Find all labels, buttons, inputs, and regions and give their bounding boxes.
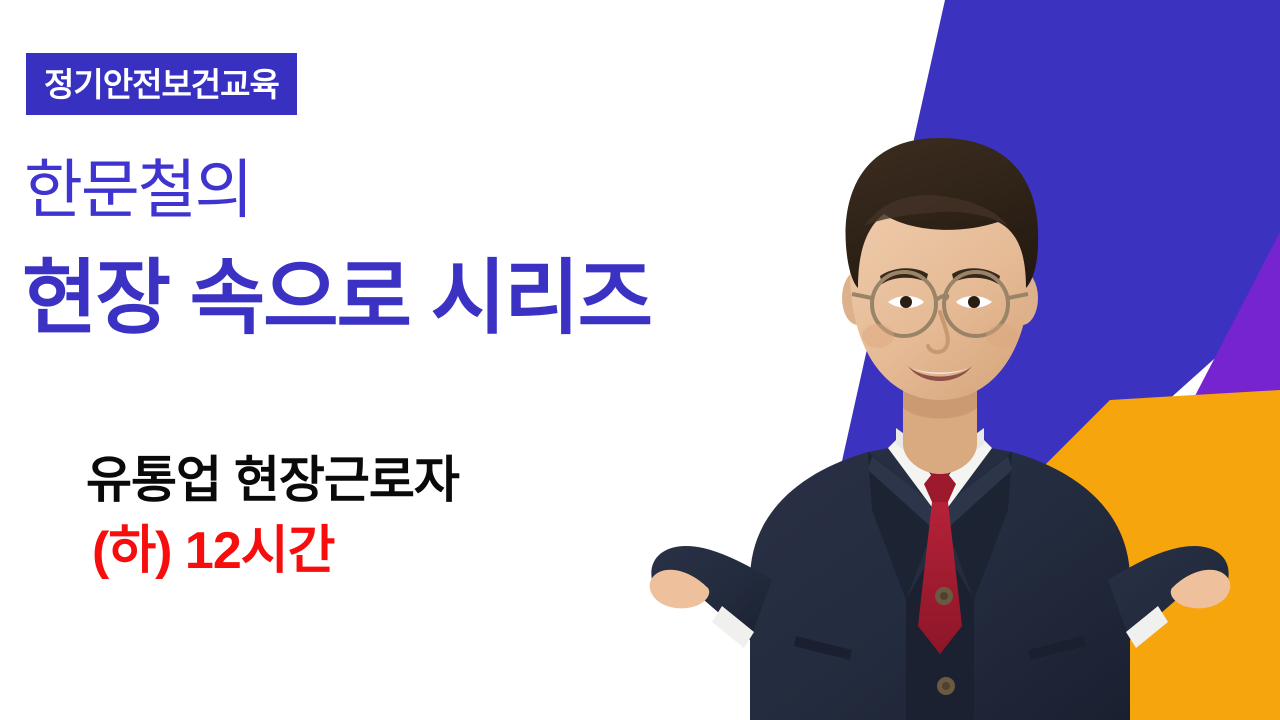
series-title-line1: 한문철의 [24,158,252,222]
thumbnail-canvas: 정기안전보건교육 한문철의 현장 속으로 시리즈 유통업 현장근로자 (하) 1… [0,0,1280,720]
course-target-audience: 유통업 현장근로자 [86,455,459,505]
text-layer: 정기안전보건교육 한문철의 현장 속으로 시리즈 유통업 현장근로자 (하) 1… [0,0,860,720]
course-category-badge: 정기안전보건교육 [26,53,297,115]
series-title-line2: 현장 속으로 시리즈 [22,258,651,340]
course-duration: (하) 12시간 [92,525,334,577]
